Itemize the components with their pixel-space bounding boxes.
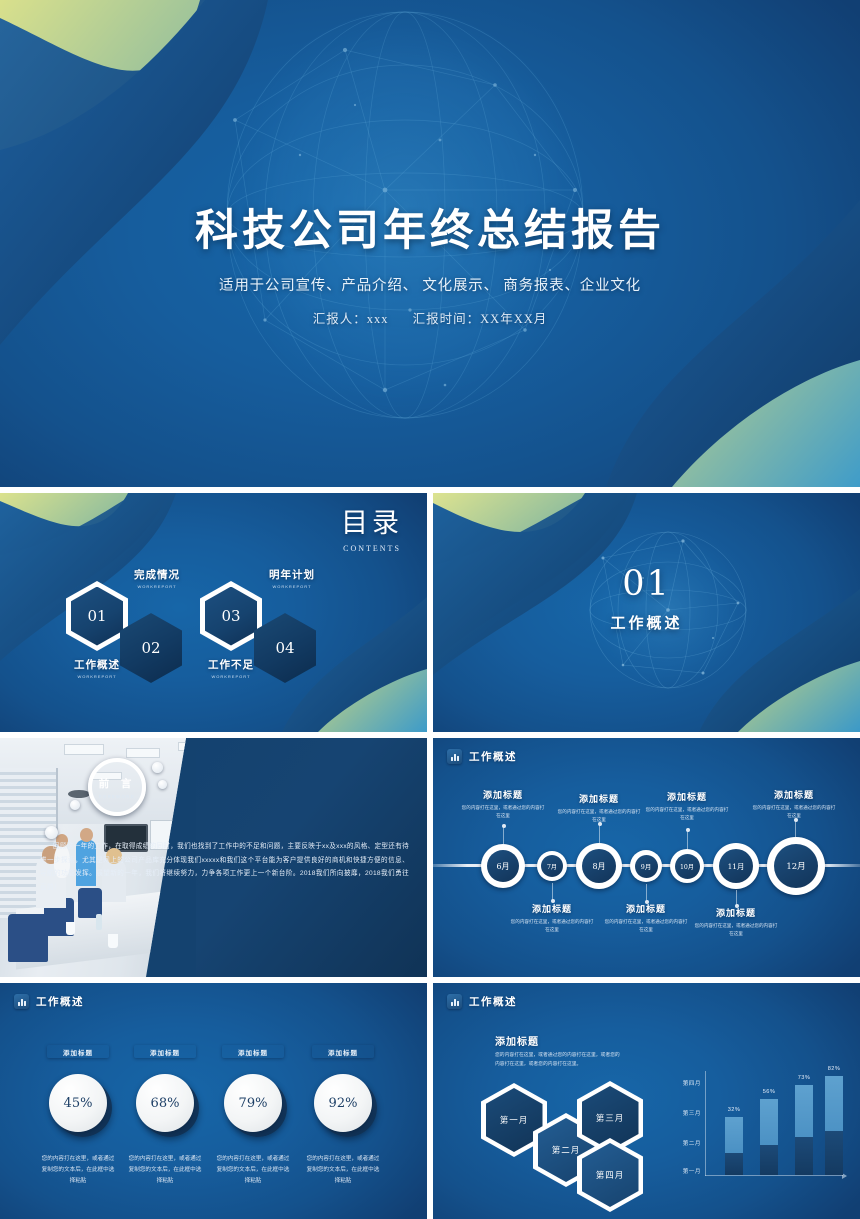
timeline-stem-4 (646, 884, 647, 902)
page-title: 科技公司年终总结报告 (0, 196, 860, 258)
timeline-caption-5-desc: 您的内容打在这里，或者通过您的内容打在这里 (644, 806, 730, 822)
percent-column-1[interactable]: 添加标题 45% 您的内容打在这里，或者通过复制您的文本后，在此框中选择粘贴 (30, 1045, 126, 1188)
timeline-caption-7-desc: 您的内容打在这里，或者通过您的内容打在这里 (751, 804, 837, 820)
contents-label-03-sub: WORKREPORT (186, 674, 276, 679)
timeline-stem-6 (736, 890, 737, 906)
timeline-caption-1-desc: 您的内容打在这里，或者通过您的内容打在这里 (460, 804, 546, 820)
hexchart-text-block: 添加标题 您的内容打在这里，或者通过您的内容打在这里，或者您的内容打在这里，或者… (495, 1033, 620, 1070)
timeline-caption-3-desc: 您的内容打在这里，或者通过您的内容打在这里 (556, 808, 642, 824)
presentation-preview-page: 科技公司年终总结报告 适用于公司宣传、产品介绍、 文化展示、 商务报表、企业文化… (0, 0, 860, 1219)
timeline-caption-6: 添加标题 您的内容打在这里，或者通过您的内容打在这里 (693, 906, 779, 938)
contents-label-01-text: 工作概述 (52, 657, 142, 672)
percent-tab-3: 添加标题 (222, 1045, 284, 1058)
section-number: 01 (433, 567, 860, 602)
chart-bar-3[interactable]: 73% (795, 1085, 813, 1175)
timeline-node-2-month: 7月 (541, 855, 563, 877)
percent-value-2: 68% (136, 1074, 194, 1132)
decorative-dot-4 (45, 826, 58, 839)
foreword-badge-cn: 前 言 (99, 776, 136, 791)
bar-chart-icon (447, 994, 462, 1009)
contents-heading-en: CONTENTS (341, 544, 403, 553)
contents-hex-03-num: 03 (205, 587, 257, 646)
contents-label-02: 完成情况 WORKREPORT (112, 567, 202, 589)
contents-label-04-text: 明年计划 (247, 567, 337, 582)
bar-chart[interactable]: 第四月 第三月 第二月 第一月 32% 56% 73% (663, 1071, 843, 1186)
timeline-caption-2: 添加标题 您的内容打在这里，或者通过您的内容打在这里 (509, 902, 595, 934)
timeline-node-3[interactable]: 8月 (576, 843, 622, 889)
section-label: 工作概述 (433, 612, 860, 633)
percent-value-4: 92% (314, 1074, 372, 1132)
timeline-stem-2 (552, 883, 553, 901)
percent-ring-2: 68% (136, 1074, 194, 1132)
timeline-caption-5-title: 添加标题 (644, 790, 730, 803)
slide-contents[interactable]: 目录 CONTENTS 01 02 03 04 工作概述 WORKREPORT … (0, 493, 427, 732)
bar-chart-icon (447, 749, 462, 764)
contents-hexagon-row: 01 02 03 04 工作概述 WORKREPORT 完成情况 WORKREP… (14, 573, 414, 693)
timeline-caption-7: 添加标题 您的内容打在这里，或者通过您的内容打在这里 (751, 788, 837, 820)
contents-label-04: 明年计划 WORKREPORT (247, 567, 337, 589)
percent-tab-1: 添加标题 (47, 1045, 109, 1058)
chart-bar-3-value: 73% (798, 1075, 810, 1081)
contents-label-01-sub: WORKREPORT (52, 674, 142, 679)
percent-tab-4: 添加标题 (312, 1045, 374, 1058)
timeline-node-1[interactable]: 6月 (481, 844, 525, 888)
percent-column-2[interactable]: 添加标题 68% 您的内容打在这里，或者通过复制您的文本后，在此框中选择粘贴 (117, 1045, 213, 1188)
section-center-block: 01 工作概述 (433, 567, 860, 633)
percent-header: 工作概述 (14, 994, 84, 1009)
chart-y-axis (705, 1071, 706, 1176)
chart-bar-1[interactable]: 32% (725, 1117, 743, 1175)
timeline-node-4[interactable]: 9月 (630, 850, 662, 882)
hexchart-header: 工作概述 (447, 994, 517, 1009)
report-time-label: 汇报时间：XX年XX月 (413, 312, 548, 326)
decorative-dot-1 (152, 762, 163, 773)
percent-desc-2: 您的内容打在这里，或者通过复制您的文本后，在此框中选择粘贴 (117, 1154, 213, 1188)
timeline-header: 工作概述 (447, 749, 517, 764)
hexchart-title: 添加标题 (495, 1033, 620, 1048)
hexchart-header-title: 工作概述 (469, 994, 517, 1009)
timeline-node-6[interactable]: 11月 (713, 843, 759, 889)
timeline-stem-7 (795, 820, 796, 837)
timeline-stem-3 (599, 824, 600, 843)
slide-hexagons-chart[interactable]: 工作概述 添加标题 您的内容打在这里，或者通过您的内容打在这里，或者您的内容打在… (433, 983, 860, 1219)
contents-label-04-sub: WORKREPORT (247, 584, 337, 589)
timeline-caption-5: 添加标题 您的内容打在这里，或者通过您的内容打在这里 (644, 790, 730, 822)
timeline-caption-3-title: 添加标题 (556, 792, 642, 805)
percent-value-1: 45% (49, 1074, 107, 1132)
timeline-node-1-month: 6月 (487, 850, 519, 882)
chart-bar-2-value: 56% (763, 1089, 775, 1095)
timeline-node-7-month: 12月 (774, 844, 818, 888)
hexchart-hex-4-label: 第四月 (582, 1143, 639, 1207)
timeline-header-title: 工作概述 (469, 749, 517, 764)
timeline-caption-4-title: 添加标题 (603, 902, 689, 915)
timeline-caption-3: 添加标题 您的内容打在这里，或者通过您的内容打在这里 (556, 792, 642, 824)
hexchart-desc: 您的内容打在这里，或者通过您的内容打在这里，或者您的内容打在这里，或者您的内容打… (495, 1052, 620, 1070)
cover-subtitle: 适用于公司宣传、产品介绍、 文化展示、 商务报表、企业文化 (0, 274, 860, 295)
percent-value-3: 79% (224, 1074, 282, 1132)
timeline-node-3-month: 8月 (582, 849, 616, 883)
foreword-body-text: 回顾这一年的工作，在取得成绩的同时，我们也找到了工作中的不足和问题，主要反映于x… (40, 840, 409, 894)
cover-meta: 汇报人：xxx 汇报时间：XX年XX月 (0, 308, 860, 327)
timeline-node-2[interactable]: 7月 (537, 851, 567, 881)
foreword-badge-en: FOREWORD (99, 794, 135, 799)
slide-title-cover[interactable]: 科技公司年终总结报告 适用于公司宣传、产品介绍、 文化展示、 商务报表、企业文化… (0, 0, 860, 487)
percent-header-title: 工作概述 (36, 994, 84, 1009)
contents-label-03-text: 工作不足 (186, 657, 276, 672)
decorative-dot-3 (70, 800, 80, 810)
percent-desc-1: 您的内容打在这里，或者通过复制您的文本后，在此框中选择粘贴 (30, 1154, 126, 1188)
timeline-caption-1: 添加标题 您的内容打在这里，或者通过您的内容打在这里 (460, 788, 546, 820)
timeline-stem-1 (503, 826, 504, 844)
chart-ytick-3: 第三月 (665, 1109, 701, 1117)
timeline-node-5[interactable]: 10月 (670, 849, 704, 883)
chart-bar-2[interactable]: 56% (760, 1099, 778, 1175)
chart-bar-4[interactable]: 82% (825, 1076, 843, 1175)
bar-chart-icon (14, 994, 29, 1009)
slide-timeline[interactable]: 工作概述 6月 添加标题 您的内容打在这里，或者通过您的内容打在这里 7月 添加… (433, 738, 860, 977)
slide-percent-circles[interactable]: 工作概述 添加标题 45% 您的内容打在这里，或者通过复制您的文本后，在此框中选… (0, 983, 427, 1219)
timeline-caption-6-title: 添加标题 (693, 906, 779, 919)
percent-column-3[interactable]: 添加标题 79% 您的内容打在这里，或者通过复制您的文本后，在此框中选择粘贴 (205, 1045, 301, 1188)
contents-label-01: 工作概述 WORKREPORT (52, 657, 142, 679)
timeline-stem-5 (687, 830, 688, 849)
chart-x-axis (705, 1175, 843, 1176)
percent-column-4[interactable]: 添加标题 92% 您的内容打在这里，或者通过复制您的文本后，在此框中选择粘贴 (295, 1045, 391, 1188)
chart-ytick-2: 第二月 (665, 1139, 701, 1147)
timeline-node-7[interactable]: 12月 (767, 837, 825, 895)
contents-label-03: 工作不足 WORKREPORT (186, 657, 276, 679)
foreword-badge: 前 言 FOREWORD (88, 758, 146, 816)
contents-heading-cn: 目录 (341, 501, 403, 540)
percent-tab-2: 添加标题 (134, 1045, 196, 1058)
contents-hex-01[interactable]: 01 (66, 581, 128, 651)
slide-foreword[interactable]: 前 言 FOREWORD 回顾这一年的工作，在取得成绩的同时，我们也找到了工作中… (0, 738, 427, 977)
chart-ytick-4: 第四月 (665, 1079, 701, 1087)
reporter-label: 汇报人：xxx (313, 312, 389, 326)
percent-ring-4: 92% (314, 1074, 372, 1132)
contents-hex-01-num: 01 (71, 587, 123, 646)
decorative-dot-2 (158, 780, 167, 789)
timeline-caption-2-title: 添加标题 (509, 902, 595, 915)
timeline-node-5-month: 10月 (675, 854, 700, 879)
timeline-caption-7-title: 添加标题 (751, 788, 837, 801)
contents-label-02-sub: WORKREPORT (112, 584, 202, 589)
contents-hex-03[interactable]: 03 (200, 581, 262, 651)
chart-bar-1-value: 32% (728, 1107, 740, 1113)
contents-heading: 目录 CONTENTS (341, 501, 403, 553)
timeline-caption-4-desc: 您的内容打在这里，或者通过您的内容打在这里 (603, 918, 689, 934)
timeline-node-4-month: 9月 (635, 855, 658, 878)
percent-desc-4: 您的内容打在这里，或者通过复制您的文本后，在此框中选择粘贴 (295, 1154, 391, 1188)
percent-ring-1: 45% (49, 1074, 107, 1132)
percent-desc-3: 您的内容打在这里，或者通过复制您的文本后，在此框中选择粘贴 (205, 1154, 301, 1188)
chart-ytick-1: 第一月 (665, 1167, 701, 1175)
timeline-caption-6-desc: 您的内容打在这里，或者通过您的内容打在这里 (693, 922, 779, 938)
cover-title-block: 科技公司年终总结报告 适用于公司宣传、产品介绍、 文化展示、 商务报表、企业文化… (0, 196, 860, 327)
timeline-node-6-month: 11月 (719, 849, 753, 883)
timeline-caption-2-desc: 您的内容打在这里，或者通过您的内容打在这里 (509, 918, 595, 934)
timeline-caption-4: 添加标题 您的内容打在这里，或者通过您的内容打在这里 (603, 902, 689, 934)
timeline-caption-1-title: 添加标题 (460, 788, 546, 801)
chart-bar-4-value: 82% (828, 1066, 840, 1072)
contents-label-02-text: 完成情况 (112, 567, 202, 582)
percent-ring-3: 79% (224, 1074, 282, 1132)
slide-section-divider[interactable]: 01 工作概述 (433, 493, 860, 732)
